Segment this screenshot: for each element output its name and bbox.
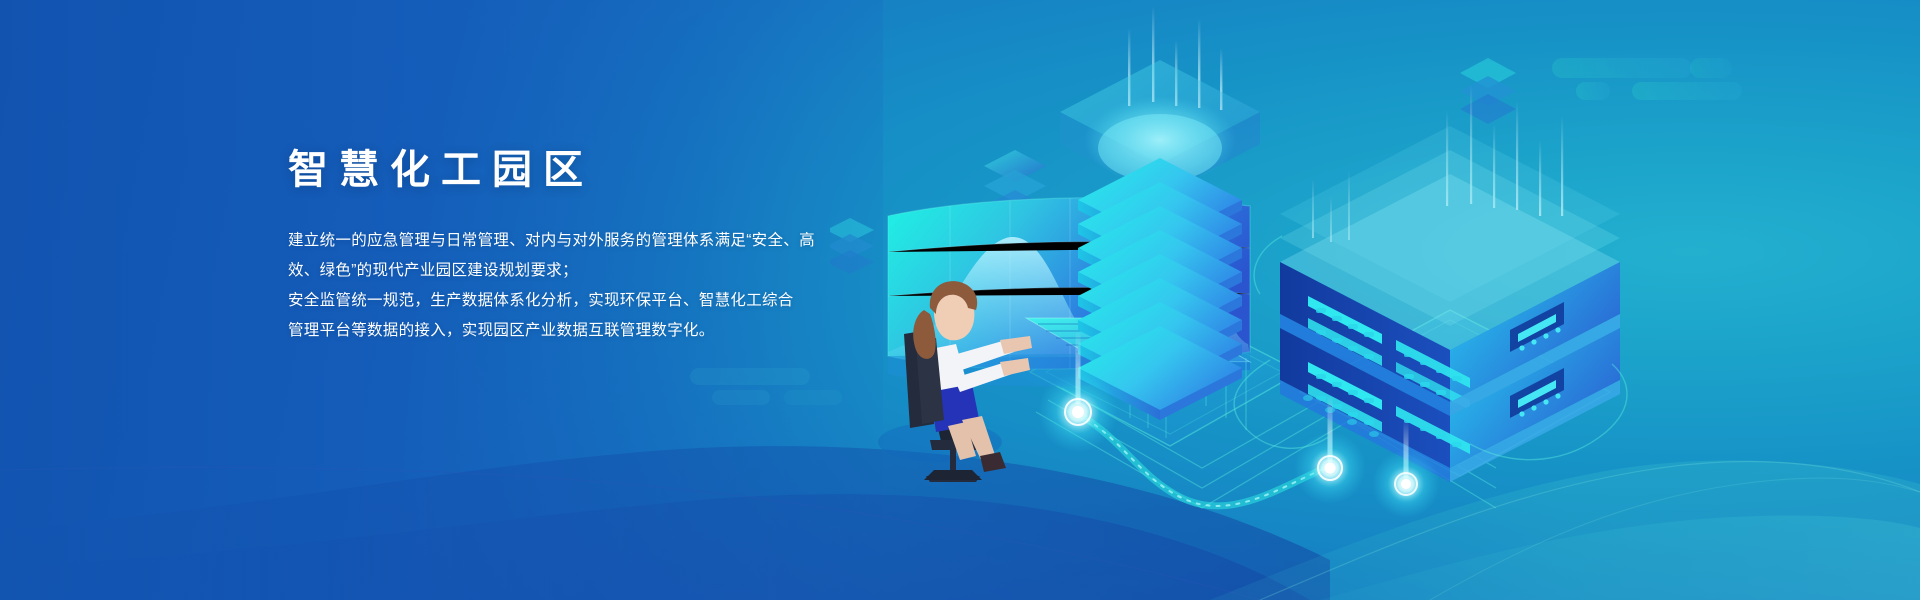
banner-copy: 智慧化工园区 建立统一的应急管理与日常管理、对内与对外服务的管理体系满足“安全、…	[288, 148, 908, 346]
layered-server-tower	[1060, 60, 1260, 420]
description-line: 管理平台等数据的接入，实现园区产业数据互联管理数字化。	[288, 316, 908, 346]
floating-cube-right	[1460, 58, 1516, 124]
page-title: 智慧化工园区	[288, 148, 908, 192]
banner-description: 建立统一的应急管理与日常管理、对内与对外服务的管理体系满足“安全、高 效、绿色”…	[288, 226, 908, 346]
cloud-bars-left	[690, 368, 842, 405]
data-connection-ribbon	[1078, 414, 1330, 506]
isometric-illustration	[830, 0, 1920, 600]
floating-cube-far-left	[830, 218, 874, 274]
description-line: 安全监管统一规范，生产数据体系化分析，实现环保平台、智慧化工综合	[288, 286, 908, 316]
description-line: 建立统一的应急管理与日常管理、对内与对外服务的管理体系满足“安全、高	[288, 226, 908, 256]
description-line: 效、绿色”的现代产业园区建设规划要求；	[288, 256, 908, 286]
hero-banner: 智慧化工园区 建立统一的应急管理与日常管理、对内与对外服务的管理体系满足“安全、…	[0, 0, 1920, 600]
